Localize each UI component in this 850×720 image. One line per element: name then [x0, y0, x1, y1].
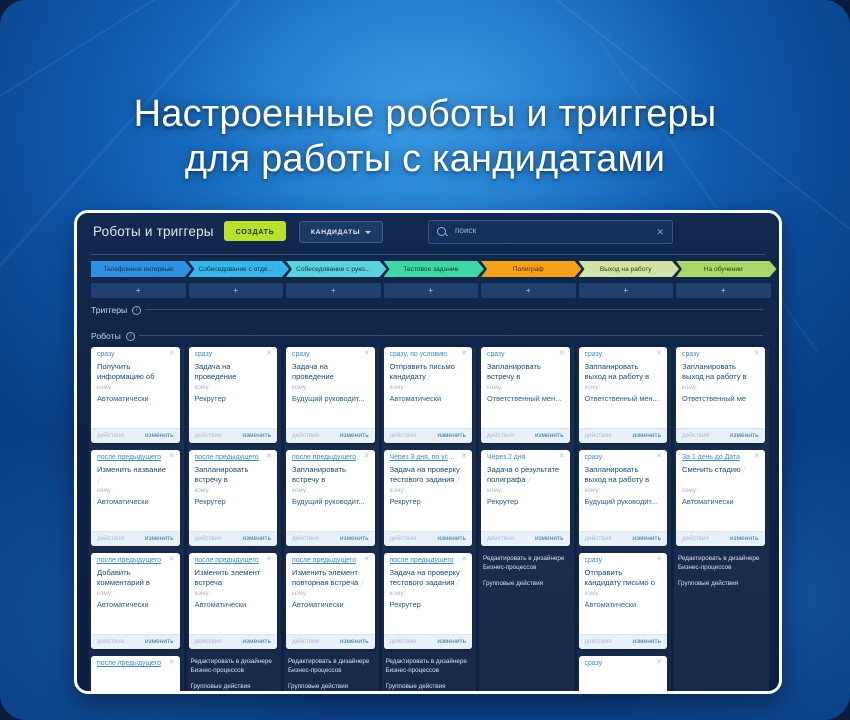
- robot-card-assignee-label: кому:: [682, 384, 698, 391]
- robot-column-5: сразу✕Запланировать встречу в календарь …: [479, 347, 577, 691]
- group-actions-link[interactable]: Групповые действия: [386, 683, 472, 692]
- designer-link-line-2: Бизнес-процессов: [678, 564, 731, 571]
- designer-link-line-1: Редактировать в дизайнере: [678, 555, 759, 562]
- robot-card-assignee-label: кому:: [682, 487, 698, 494]
- robot-card-name: Задача на проведение собеседования с ╱: [292, 362, 365, 382]
- designer-links[interactable]: Редактировать в дизайнереБизнес-процессо…: [678, 555, 764, 589]
- slide-title-line-1: Настроенные роботы и триггеры: [134, 93, 717, 135]
- robot-card-name: Задача на проверку тестового задания ╱: [390, 568, 463, 588]
- robot-card-condition[interactable]: после предыдущего: [292, 557, 359, 564]
- change-link[interactable]: изменить: [340, 432, 369, 439]
- add-robot-button-2[interactable]: +: [189, 283, 284, 298]
- slide-canvas: Настроенные роботы и триггеры для работы…: [0, 0, 850, 720]
- robot-card-condition[interactable]: Через 2 дня: [487, 454, 554, 461]
- actions-link[interactable]: действия: [487, 535, 514, 542]
- robot-card-assignee-label: кому:: [585, 384, 601, 391]
- robot-card-footer: действияизменить: [579, 531, 668, 546]
- robot-card-assignee: Будущий руководит...: [292, 497, 367, 506]
- robot-card[interactable]: после предыдущего✕Изменить название ╱ком…: [91, 450, 180, 546]
- close-icon[interactable]: ✕: [656, 659, 662, 667]
- create-button[interactable]: СОЗДАТЬ: [224, 221, 286, 241]
- actions-link[interactable]: действия: [195, 432, 222, 439]
- change-link[interactable]: изменить: [535, 432, 564, 439]
- group-actions-link[interactable]: Групповые действия: [678, 580, 764, 589]
- robot-column-1: сразу✕Получить информацию об элементе CR…: [89, 347, 187, 691]
- stage-tabs: Телефонное интервьюСобеседование с отде.…: [91, 261, 769, 277]
- robot-card[interactable]: сразу✕Отправить кандидату письмо о выход…: [579, 553, 668, 649]
- robot-card-assignee-label: кому:: [292, 590, 308, 597]
- robot-card-name: Добавить комментарий в элемент ╱: [97, 568, 170, 588]
- stage-tab-label: Тестовое задание: [403, 266, 458, 273]
- robot-card-name: Задача на проверку тестового задания ╱: [390, 465, 463, 485]
- stage-tab-2[interactable]: Собеседование с отде...: [189, 261, 290, 277]
- change-link[interactable]: изменить: [242, 535, 271, 542]
- robot-card[interactable]: после предыдущего✕Изменить элемент повто…: [286, 553, 375, 649]
- robot-card[interactable]: сразу✕Запланировать встречу в календарь …: [481, 347, 570, 443]
- robot-card-name: Запланировать выход на работу в календар…: [585, 465, 658, 485]
- robot-column-3: сразу✕Задача на проведение собеседования…: [284, 347, 382, 691]
- app-toolbar: Роботы и триггеры СОЗДАТЬ КАНДИДАТЫ поис…: [77, 213, 779, 255]
- add-robot-button-3[interactable]: +: [286, 283, 381, 298]
- robot-card-assignee-label: кому:: [585, 487, 601, 494]
- designer-links[interactable]: Редактировать в дизайнереБизнес-процессо…: [191, 658, 277, 692]
- change-link[interactable]: изменить: [145, 638, 174, 645]
- robot-column-2: сразу✕Задача на проведение собеседования…: [187, 347, 285, 691]
- actions-link[interactable]: действия: [292, 432, 319, 439]
- robot-card-name: Запланировать встречу в календарь руково…: [292, 465, 365, 485]
- robot-card[interactable]: после предыдущего✕Задача на проверку тес…: [384, 553, 473, 649]
- designer-link-line-1: Редактировать в дизайнере: [386, 658, 467, 665]
- robot-card[interactable]: Через 2 дня✕Задача о результате полиграф…: [481, 450, 570, 546]
- robot-card[interactable]: сразу✕Задача на проведение собеседования…: [189, 347, 278, 443]
- add-robot-button-1[interactable]: +: [91, 283, 186, 298]
- robot-card-condition[interactable]: сразу: [585, 660, 652, 667]
- stage-tab-4[interactable]: Тестовое задание: [384, 261, 485, 277]
- designer-link-line-1: Редактировать в дизайнере: [191, 658, 272, 665]
- add-robot-button-5[interactable]: +: [481, 283, 576, 298]
- change-link[interactable]: изменить: [632, 432, 661, 439]
- actions-link[interactable]: действия: [97, 535, 124, 542]
- actions-link[interactable]: действия: [682, 535, 709, 542]
- robot-card-condition[interactable]: сразу: [585, 454, 652, 461]
- robot-card-footer: действияизменить: [384, 634, 473, 649]
- close-icon[interactable]: ✕: [266, 453, 272, 461]
- robot-card[interactable]: после предыдущего✕: [91, 656, 180, 694]
- close-icon[interactable]: ✕: [461, 453, 467, 461]
- close-icon[interactable]: ✕: [169, 556, 175, 564]
- robot-card-assignee: Рекрутер: [487, 497, 562, 506]
- change-link[interactable]: изменить: [340, 638, 369, 645]
- robot-card-footer: действияизменить: [189, 428, 278, 443]
- stage-tab-label: Телефонное интервью: [103, 266, 173, 273]
- robot-card-condition[interactable]: после предыдущего: [195, 557, 262, 564]
- robot-column-6: сразу✕Запланировать выход на работу в ка…: [577, 347, 675, 691]
- robot-card-assignee-label: кому:: [390, 384, 406, 391]
- robot-card-condition[interactable]: после предыдущего: [97, 454, 164, 461]
- robot-card[interactable]: Через 3 дня, по услов...✕Задача на прове…: [384, 450, 473, 546]
- robot-card-name: Запланировать выход на работу в календар…: [682, 362, 755, 382]
- close-icon[interactable]: ✕: [169, 659, 175, 667]
- close-icon[interactable]: ✕: [266, 350, 272, 358]
- robot-card-assignee-label: кому:: [390, 590, 406, 597]
- actions-link[interactable]: действия: [585, 432, 612, 439]
- page-title: Роботы и триггеры: [93, 224, 214, 239]
- stage-tab-6[interactable]: Выход на работу: [579, 261, 680, 277]
- actions-link[interactable]: действия: [292, 535, 319, 542]
- robot-card-condition[interactable]: после предыдущего: [97, 557, 164, 564]
- close-icon[interactable]: ✕: [364, 453, 370, 461]
- slide-title-line-2: для работы с кандидатами: [30, 137, 820, 182]
- robot-card[interactable]: сразу✕Задача на проведение собеседования…: [286, 347, 375, 443]
- robot-card-name: Запланировать встречу в календарь ╱: [487, 362, 560, 382]
- robot-card-condition[interactable]: За 1 день до Дата: [682, 454, 749, 461]
- close-icon[interactable]: ✕: [656, 453, 662, 461]
- robot-card-assignee-label: кому:: [292, 487, 308, 494]
- section-triggers-label: Триггеры: [91, 305, 127, 315]
- change-link[interactable]: изменить: [535, 535, 564, 542]
- robot-card-condition[interactable]: сразу: [682, 351, 749, 358]
- robot-column-7: сразу✕Запланировать выход на работу в ка…: [674, 347, 772, 691]
- designer-links[interactable]: Редактировать в дизайнереБизнес-процессо…: [386, 658, 472, 692]
- robot-card-assignee-label: кому:: [292, 384, 308, 391]
- pencil-icon[interactable]: ╱: [455, 478, 460, 484]
- robot-card-footer: действияизменить: [481, 428, 570, 443]
- close-icon[interactable]: ✕: [461, 350, 467, 358]
- close-icon[interactable]: ✕: [266, 556, 272, 564]
- close-icon[interactable]: ✕: [559, 453, 565, 461]
- robot-card-footer: действияизменить: [91, 634, 180, 649]
- robot-card-name: Изменить название ╱: [97, 465, 170, 485]
- actions-link[interactable]: действия: [390, 638, 417, 645]
- stage-tab-5[interactable]: Полиграф: [481, 261, 582, 277]
- chevron-down-icon: [365, 231, 371, 234]
- robot-card-condition[interactable]: сразу, по условию: [390, 351, 457, 358]
- robot-card-name: Задача на проведение собеседования с ╱: [195, 362, 268, 382]
- robot-card-name: Сменить стадию ╱: [682, 465, 755, 476]
- group-actions-link[interactable]: Групповые действия: [288, 683, 374, 692]
- actions-link[interactable]: действия: [390, 432, 417, 439]
- designer-links[interactable]: Редактировать в дизайнереБизнес-процессо…: [288, 658, 374, 692]
- robot-card-condition[interactable]: сразу: [292, 351, 359, 358]
- pencil-icon[interactable]: ╱: [358, 581, 363, 587]
- actions-link[interactable]: действия: [585, 535, 612, 542]
- robot-card-footer: действияизменить: [189, 634, 278, 649]
- robot-card[interactable]: после предыдущего✕Запланировать встречу …: [286, 450, 375, 546]
- designer-link-line-2: Бизнес-процессов: [483, 564, 536, 571]
- section-divider: [145, 309, 763, 310]
- change-link[interactable]: изменить: [145, 535, 174, 542]
- pencil-icon[interactable]: ╱: [455, 581, 460, 587]
- app-window: Роботы и триггеры СОЗДАТЬ КАНДИДАТЫ поис…: [77, 213, 779, 691]
- actions-link[interactable]: действия: [97, 432, 124, 439]
- robot-card-footer: действияизменить: [286, 428, 375, 443]
- robot-card-assignee-label: кому:: [97, 487, 113, 494]
- pencil-icon[interactable]: ╱: [741, 468, 746, 474]
- stage-tab-1[interactable]: Телефонное интервью: [91, 261, 192, 277]
- robot-card-name: Задача о результате полиграфа ╱: [487, 465, 560, 485]
- robot-card-condition[interactable]: сразу: [487, 351, 554, 358]
- pencil-icon[interactable]: ╱: [97, 479, 101, 485]
- close-icon[interactable]: ✕: [364, 350, 370, 358]
- robot-card-assignee: Автоматически: [292, 600, 367, 609]
- robot-card-assignee: Автоматически: [97, 497, 172, 506]
- robot-card[interactable]: сразу, по условию✕Отправить письмо канди…: [384, 347, 473, 443]
- robot-card-condition[interactable]: сразу: [585, 557, 652, 564]
- entity-selector-label: КАНДИДАТЫ: [311, 229, 360, 236]
- designer-link-line-1: Редактировать в дизайнере: [288, 658, 369, 665]
- robot-card-assignee: Автоматически: [97, 394, 172, 403]
- toolbar-divider: [91, 254, 765, 255]
- robot-card-assignee-label: кому:: [585, 590, 601, 597]
- app-screenshot: Роботы и триггеры СОЗДАТЬ КАНДИДАТЫ поис…: [74, 210, 782, 694]
- robot-card-assignee: Ответственный мен...: [487, 394, 562, 403]
- robot-card-footer: действияизменить: [286, 531, 375, 546]
- actions-link[interactable]: действия: [585, 638, 612, 645]
- add-robot-button-7[interactable]: +: [676, 283, 771, 298]
- actions-link[interactable]: действия: [97, 638, 124, 645]
- robot-card-name: Изменить элемент встреча запланирована ╱: [195, 568, 268, 588]
- close-icon[interactable]: ✕: [461, 556, 467, 564]
- stage-tab-label: Выход на работу: [600, 266, 652, 273]
- robot-card-footer: действияизменить: [676, 428, 765, 443]
- robot-card-name: Получить информацию об элементе CRM ╱: [97, 362, 170, 382]
- robot-card-assignee: Автоматически: [195, 600, 270, 609]
- robot-card-assignee-label: кому:: [390, 487, 406, 494]
- robot-card-condition[interactable]: после предыдущего: [292, 454, 359, 461]
- actions-link[interactable]: действия: [195, 535, 222, 542]
- info-icon[interactable]: i: [126, 332, 135, 341]
- close-icon[interactable]: ✕: [169, 453, 175, 461]
- robot-card-assignee: Автоматически: [97, 600, 172, 609]
- robot-board: сразу✕Получить информацию об элементе CR…: [89, 347, 775, 691]
- change-link[interactable]: изменить: [730, 535, 759, 542]
- robot-card-footer: действияизменить: [286, 634, 375, 649]
- robot-card-assignee: Ответственный ме: [682, 394, 757, 403]
- robot-card[interactable]: сразу✕Запланировать выход на работу в ка…: [579, 450, 668, 546]
- actions-link[interactable]: действия: [292, 638, 319, 645]
- designer-link-line-2: Бизнес-процессов: [191, 667, 244, 674]
- close-icon[interactable]: ✕: [656, 350, 662, 358]
- designer-link-line-2: Бизнес-процессов: [288, 667, 341, 674]
- section-robots-label: Роботы: [91, 331, 121, 341]
- stage-tab-label: На обучении: [704, 266, 743, 273]
- change-link[interactable]: изменить: [632, 535, 661, 542]
- robot-card-name: Запланировать выход на работу в календар…: [585, 362, 658, 382]
- section-divider: [139, 335, 763, 336]
- robot-card[interactable]: сразу✕Получить информацию об элементе CR…: [91, 347, 180, 443]
- actions-link[interactable]: действия: [390, 535, 417, 542]
- robot-card[interactable]: после предыдущего✕Запланировать встречу …: [189, 450, 278, 546]
- robot-card-condition[interactable]: Через 3 дня, по услов...: [390, 454, 457, 461]
- robot-card-footer: действияизменить: [579, 428, 668, 443]
- robot-card-condition[interactable]: сразу: [195, 351, 262, 358]
- robot-card-assignee: Рекрутер: [390, 600, 465, 609]
- change-link[interactable]: изменить: [242, 432, 271, 439]
- robot-card-assignee-label: кому:: [195, 590, 211, 597]
- robot-card-footer: действияизменить: [189, 531, 278, 546]
- robot-card-condition[interactable]: после предыдущего: [195, 454, 262, 461]
- designer-links[interactable]: Редактировать в дизайнереБизнес-процессо…: [483, 555, 569, 589]
- robot-card-footer: действияизменить: [676, 531, 765, 546]
- add-robot-button-6[interactable]: +: [579, 283, 674, 298]
- designer-link-line-1: Редактировать в дизайнере: [483, 555, 564, 562]
- robot-card-assignee: Автоматически: [390, 394, 465, 403]
- stage-tab-label: Собеседование с руко...: [296, 266, 370, 273]
- section-triggers: Триггеры i: [91, 305, 141, 315]
- robot-card[interactable]: За 1 день до Дата✕Сменить стадию ╱кому:А…: [676, 450, 765, 546]
- designer-link-line-2: Бизнес-процессов: [386, 667, 439, 674]
- robot-card-assignee: Рекрутер: [390, 497, 465, 506]
- robot-card[interactable]: сразу✕Запланировать выход на работу в ка…: [579, 347, 668, 443]
- change-link[interactable]: изменить: [437, 638, 466, 645]
- pencil-icon[interactable]: ╱: [526, 478, 531, 484]
- robot-card-footer: действияизменить: [481, 531, 570, 546]
- actions-link[interactable]: действия: [682, 432, 709, 439]
- search-input[interactable]: поиск ✕: [428, 220, 673, 244]
- robot-card-assignee: Рекрутер: [195, 497, 270, 506]
- robot-card-assignee-label: кому:: [97, 590, 113, 597]
- robot-card-name: Изменить элемент повторная встреча ╱: [292, 568, 365, 588]
- robot-card-assignee-label: кому:: [487, 487, 503, 494]
- close-icon[interactable]: ✕: [656, 225, 664, 239]
- robot-card-assignee: Будущий руководит...: [585, 497, 660, 506]
- close-icon[interactable]: ✕: [754, 453, 760, 461]
- search-placeholder: поиск: [455, 226, 476, 235]
- robot-card-assignee-label: кому:: [195, 487, 211, 494]
- info-icon[interactable]: i: [132, 306, 141, 315]
- group-actions-link[interactable]: Групповые действия: [191, 683, 277, 692]
- change-link[interactable]: изменить: [437, 432, 466, 439]
- robot-card-assignee: Рекрутер: [195, 394, 270, 403]
- robot-card[interactable]: сразу✕Запланировать выход на работу в ка…: [676, 347, 765, 443]
- robot-card-name: Запланировать встречу в календарь рекрут…: [195, 465, 268, 485]
- robot-card-condition[interactable]: сразу: [585, 351, 652, 358]
- actions-link[interactable]: действия: [195, 638, 222, 645]
- robot-card-assignee-label: кому:: [195, 384, 211, 391]
- robot-card[interactable]: после предыдущего✕Изменить элемент встре…: [189, 553, 278, 649]
- close-icon[interactable]: ✕: [559, 350, 565, 358]
- robot-card-footer: действияизменить: [384, 428, 473, 443]
- group-actions-link[interactable]: Групповые действия: [483, 580, 569, 589]
- stage-tab-7[interactable]: На обучении: [676, 261, 777, 277]
- robot-card-condition[interactable]: после предыдущего: [97, 660, 164, 667]
- robot-card-assignee: Автоматически: [682, 497, 757, 506]
- section-robots: Роботы i: [91, 331, 135, 341]
- robot-card-assignee: Будущий руководит...: [292, 394, 367, 403]
- add-robot-button-4[interactable]: +: [384, 283, 479, 298]
- change-link[interactable]: изменить: [632, 638, 661, 645]
- robot-card-name: Отправить письмо кандидату ╱: [390, 362, 463, 382]
- close-icon[interactable]: ✕: [656, 556, 662, 564]
- change-link[interactable]: изменить: [730, 432, 759, 439]
- robot-card-condition[interactable]: сразу: [97, 351, 164, 358]
- close-icon[interactable]: ✕: [364, 556, 370, 564]
- close-icon[interactable]: ✕: [754, 350, 760, 358]
- robot-card-assignee: Автоматически: [585, 600, 660, 609]
- change-link[interactable]: изменить: [437, 535, 466, 542]
- change-link[interactable]: изменить: [340, 535, 369, 542]
- robot-card[interactable]: сразу✕: [579, 656, 668, 694]
- robot-card-footer: действияизменить: [91, 531, 180, 546]
- robot-column-4: сразу, по условию✕Отправить письмо канди…: [382, 347, 480, 691]
- add-robot-row: +++++++: [91, 283, 769, 298]
- robot-card-assignee-label: кому:: [97, 384, 113, 391]
- robot-card-condition[interactable]: после предыдущего: [390, 557, 457, 564]
- robot-card-footer: действияизменить: [384, 531, 473, 546]
- search-icon: [437, 227, 446, 236]
- robot-card-footer: действияизменить: [579, 634, 668, 649]
- robot-card-name: Отправить кандидату письмо о выходе на ╱: [585, 568, 658, 588]
- change-link[interactable]: изменить: [242, 638, 271, 645]
- stage-tab-label: Собеседование с отде...: [198, 266, 273, 273]
- close-icon[interactable]: ✕: [169, 350, 175, 358]
- robot-card-footer: действияизменить: [91, 428, 180, 443]
- stage-tab-label: Полиграф: [513, 266, 544, 273]
- slide-title: Настроенные роботы и триггеры для работы…: [0, 92, 850, 182]
- robot-card-assignee-label: кому:: [487, 384, 503, 391]
- robot-card[interactable]: после предыдущего✕Добавить комментарий в…: [91, 553, 180, 649]
- actions-link[interactable]: действия: [487, 432, 514, 439]
- robot-card-assignee: Ответственный мен...: [585, 394, 660, 403]
- entity-selector[interactable]: КАНДИДАТЫ: [299, 221, 383, 243]
- change-link[interactable]: изменить: [145, 432, 174, 439]
- pencil-icon[interactable]: ╱: [426, 375, 431, 381]
- stage-tab-3[interactable]: Собеседование с руко...: [286, 261, 387, 277]
